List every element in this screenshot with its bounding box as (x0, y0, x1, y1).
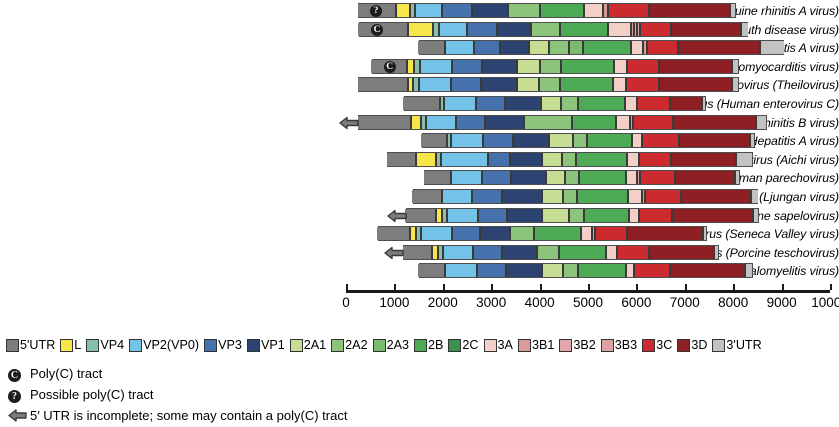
genome-segment[interactable] (419, 78, 451, 91)
genome-segment[interactable] (670, 97, 702, 110)
genome-segment[interactable] (456, 116, 485, 129)
genome-segment[interactable] (451, 171, 482, 184)
legend-swatch (484, 339, 497, 352)
genome-segment[interactable] (358, 78, 409, 91)
genome-row: Aphthovirus (Foot-and-mouth disease viru… (0, 21, 839, 39)
genome-segment[interactable] (675, 171, 736, 184)
genome-segment[interactable] (485, 116, 524, 129)
genome-row: Sapelovirus (Porcine sapelovirus) (0, 207, 839, 225)
axis-tick-label: 0 (342, 295, 350, 310)
genome-segment[interactable] (529, 41, 548, 54)
legend-note: 5′ UTR is incomplete; some may contain a… (8, 406, 347, 426)
legend-swatch (290, 339, 303, 352)
genome-segment[interactable] (447, 209, 478, 222)
genome-segment[interactable] (595, 227, 627, 240)
legend-swatch (677, 339, 690, 352)
genome-segment[interactable] (517, 78, 540, 91)
genome-segment[interactable] (639, 153, 671, 166)
axis-tick-label: 2000 (428, 295, 458, 310)
genome-segment[interactable] (451, 78, 481, 91)
genome-segment[interactable] (510, 153, 542, 166)
genome-segment[interactable] (642, 134, 679, 147)
bar-track (346, 262, 839, 280)
genome-bar[interactable] (403, 245, 719, 260)
legend-item[interactable]: 3A (484, 336, 513, 354)
bar-track (346, 244, 839, 262)
genome-bar[interactable] (422, 133, 755, 148)
legend-swatch (6, 339, 19, 352)
genome-segment[interactable] (679, 134, 750, 147)
genome-segment[interactable] (584, 209, 629, 222)
genome-bar[interactable] (358, 3, 736, 18)
genome-segment[interactable] (730, 4, 735, 17)
genome-segment[interactable] (506, 264, 542, 277)
genome-segment[interactable] (541, 97, 561, 110)
genome-segment[interactable] (411, 116, 422, 129)
genome-segment[interactable] (573, 134, 587, 147)
bar-track (346, 95, 839, 113)
genome-bar[interactable] (406, 208, 759, 223)
genome-row: Teschovirus (Porcine teschovirus) (0, 244, 839, 262)
genome-segment[interactable] (481, 78, 516, 91)
genome-segment[interactable] (673, 116, 756, 129)
genome-segment[interactable] (377, 227, 409, 240)
polyc-tract-icon: C (371, 24, 383, 36)
legend-label: 3A (498, 336, 513, 354)
genome-segment[interactable] (561, 97, 578, 110)
legend-swatch (204, 339, 217, 352)
genome-segment[interactable] (510, 227, 534, 240)
note-label: Possible poly(C) tract (30, 385, 154, 405)
genome-segment[interactable] (420, 60, 452, 73)
genome-row: Senecavirus (Seneca Valley virus) (0, 225, 839, 243)
genome-segment[interactable] (444, 97, 476, 110)
axis-tick-label: 9000 (767, 295, 797, 310)
legend-label: 3B2 (573, 336, 595, 354)
genome-segment[interactable] (703, 227, 707, 240)
genome-segment[interactable] (445, 41, 474, 54)
genome-segment[interactable] (396, 4, 410, 17)
genome-segment[interactable] (672, 209, 753, 222)
genome-segment[interactable] (482, 60, 516, 73)
genome-segment[interactable] (412, 190, 442, 203)
bar-track (346, 188, 839, 206)
genome-segment[interactable] (647, 41, 678, 54)
genome-segment[interactable] (671, 23, 742, 36)
incomplete-5utr-arrow-icon (8, 407, 28, 425)
genome-segment[interactable] (472, 190, 502, 203)
genome-segment[interactable] (421, 134, 447, 147)
genome-segment[interactable] (416, 153, 436, 166)
genome-segment[interactable] (408, 23, 432, 36)
genome-segment[interactable] (542, 209, 569, 222)
legend-item[interactable]: 3D (677, 336, 707, 354)
genome-segment[interactable] (549, 134, 573, 147)
legend-item[interactable]: VP2(VP0) (129, 336, 199, 354)
legend-swatch (414, 339, 427, 352)
genome-segment[interactable] (442, 4, 472, 17)
genome-bar[interactable] (378, 226, 707, 241)
genome-row: Aphthovirus (Equine rhinitis A virus)? (0, 2, 839, 20)
genome-segment[interactable] (572, 116, 616, 129)
genome-segment[interactable] (531, 23, 560, 36)
genome-segment[interactable] (500, 41, 529, 54)
legend-item[interactable]: 2C (448, 336, 478, 354)
legend-item[interactable]: 2B (414, 336, 443, 354)
bar-track (346, 169, 839, 187)
genome-segment[interactable] (472, 4, 507, 17)
genome-segment[interactable] (627, 227, 703, 240)
legend-label: VP3 (218, 336, 242, 354)
axis-tick-label: 4000 (525, 295, 555, 310)
genome-segment[interactable] (616, 116, 630, 129)
genome-segment[interactable] (587, 134, 632, 147)
genome-segment[interactable] (407, 60, 414, 73)
genome-segment[interactable] (452, 227, 481, 240)
legend-label: 2A1 (304, 336, 326, 354)
genome-segment[interactable] (626, 264, 634, 277)
genome-segment[interactable] (584, 4, 603, 17)
genome-segment[interactable] (542, 190, 563, 203)
legend-item[interactable]: L (60, 336, 81, 354)
bar-track (346, 151, 839, 169)
legend-label: VP2(VP0) (143, 336, 199, 354)
genome-segment[interactable] (645, 190, 680, 203)
axis-tick-label: 7000 (670, 295, 700, 310)
genome-segment[interactable] (563, 190, 577, 203)
genome-segment[interactable] (482, 171, 511, 184)
genome-segment[interactable] (750, 134, 754, 147)
genome-segment[interactable] (483, 134, 513, 147)
genome-segment[interactable] (583, 41, 631, 54)
genome-segment[interactable] (659, 78, 732, 91)
genome-segment[interactable] (488, 153, 510, 166)
legend-swatch (86, 339, 99, 352)
genome-segment[interactable] (629, 209, 639, 222)
genome-segment[interactable] (534, 227, 581, 240)
genome-segment[interactable] (633, 116, 672, 129)
axis-tick-label: 1000 (379, 295, 409, 310)
genome-segment[interactable] (614, 60, 627, 73)
incomplete-5utr-arrow-icon (387, 209, 407, 222)
genome-segment[interactable] (560, 78, 613, 91)
legend-item[interactable]: 3C (642, 336, 672, 354)
legend-item[interactable]: 3B1 (518, 336, 554, 354)
axis-tick (491, 284, 493, 290)
legend-item[interactable]: 2A1 (290, 336, 326, 354)
legend-item[interactable]: 3B2 (559, 336, 595, 354)
axis-tick (540, 284, 542, 290)
genome-segment[interactable] (681, 190, 751, 203)
genome-segment[interactable] (542, 264, 563, 277)
genome-segment[interactable] (577, 190, 628, 203)
legend-swatch (373, 339, 386, 352)
genome-segment[interactable] (451, 134, 483, 147)
genome-segment[interactable] (751, 190, 758, 203)
axis-tick (782, 284, 784, 290)
axis-line (346, 290, 830, 293)
genome-row: Parechovirus (Ljungan virus) (0, 188, 839, 206)
genome-segment[interactable] (467, 23, 497, 36)
genome-bar[interactable] (359, 22, 748, 37)
genome-segment[interactable] (546, 171, 565, 184)
legend-label: 3'UTR (726, 336, 761, 354)
axis-tick (588, 284, 590, 290)
genome-segment[interactable] (387, 153, 417, 166)
genome-segment[interactable] (639, 209, 672, 222)
genome-segment[interactable] (418, 41, 445, 54)
genome-segment[interactable] (627, 60, 659, 73)
genome-segment[interactable] (561, 60, 614, 73)
genome-segment[interactable] (579, 171, 626, 184)
possible-polyc-tract-icon: ? (8, 390, 21, 403)
legend-note: CPoly(C) tract (8, 364, 102, 384)
genome-segment[interactable] (613, 78, 626, 91)
note-icon-wrap: C (8, 365, 28, 383)
legend-swatch (448, 339, 461, 352)
genome-segment[interactable] (497, 23, 531, 36)
genome-segment[interactable] (559, 246, 606, 259)
genome-segment[interactable] (415, 4, 442, 17)
genome-segment[interactable] (578, 264, 626, 277)
genome-segment[interactable] (745, 264, 752, 277)
genome-bar[interactable] (419, 263, 753, 278)
legend: 5'UTRLVP4VP2(VP0)VP3VP12A12A22A32B2C3A3B… (6, 336, 839, 354)
bar-track (346, 207, 839, 225)
genome-segment[interactable] (565, 171, 579, 184)
genome-segment[interactable] (569, 209, 584, 222)
bar-track: ? (346, 2, 839, 20)
genome-segment[interactable] (513, 134, 549, 147)
legend-swatch (712, 339, 725, 352)
legend-item[interactable]: 2A2 (331, 336, 367, 354)
bar-track (346, 225, 839, 243)
legend-item[interactable]: VP3 (204, 336, 242, 354)
legend-label: 3B3 (615, 336, 637, 354)
bar-track (346, 132, 839, 150)
axis-tick-label: 6000 (621, 295, 651, 310)
genome-segment[interactable] (476, 97, 505, 110)
axis-tick-label: 10000 (811, 295, 839, 310)
legend-label: VP4 (100, 336, 124, 354)
genome-segment[interactable] (542, 153, 562, 166)
genome-segment[interactable] (502, 190, 543, 203)
legend-swatch (247, 339, 260, 352)
legend-swatch (129, 339, 142, 352)
genome-segment[interactable] (562, 153, 576, 166)
genome-segment[interactable] (659, 60, 732, 73)
legend-label: 3D (691, 336, 707, 354)
genome-segment[interactable] (403, 97, 439, 110)
genome-segment[interactable] (576, 153, 627, 166)
genome-segment[interactable] (581, 227, 592, 240)
genome-segment[interactable] (403, 246, 433, 259)
genome-row: Erbovirus (Equine rhinitis B virus) (0, 114, 839, 132)
bar-track: C (346, 21, 839, 39)
genome-segment[interactable] (735, 171, 739, 184)
genome-segment[interactable] (405, 209, 436, 222)
axis-tick (685, 284, 687, 290)
legend-swatch (60, 339, 73, 352)
genome-segment[interactable] (560, 23, 608, 36)
genome-segment[interactable] (702, 97, 706, 110)
genome-segment[interactable] (511, 171, 546, 184)
genome-segment[interactable] (760, 41, 784, 54)
genome-segment[interactable] (640, 23, 671, 36)
genome-segment[interactable] (626, 171, 637, 184)
genome-segment[interactable] (756, 116, 767, 129)
genome-segment[interactable] (634, 264, 670, 277)
axis-tick (443, 284, 445, 290)
genome-segment[interactable] (424, 171, 451, 184)
genome-bar[interactable] (358, 115, 767, 130)
legend-item[interactable]: VP1 (247, 336, 285, 354)
genome-row: Hepatovirus (Hepatitis A virus) (0, 132, 839, 150)
genome-segment[interactable] (508, 4, 541, 17)
genome-segment[interactable] (626, 78, 659, 91)
genome-bar[interactable] (404, 96, 706, 111)
genome-segment[interactable] (608, 23, 631, 36)
genome-segment[interactable] (732, 60, 739, 73)
genome-segment[interactable] (753, 209, 758, 222)
genome-segment[interactable] (628, 190, 642, 203)
genome-segment[interactable] (507, 209, 542, 222)
legend-item[interactable]: 3B3 (601, 336, 637, 354)
genome-row: Cardiovirus (Theilovirus) (0, 76, 839, 94)
genome-segment[interactable] (439, 23, 467, 36)
genome-segment[interactable] (627, 153, 639, 166)
genome-segment[interactable] (606, 246, 618, 259)
legend-swatch (331, 339, 344, 352)
axis-tick-label: 3000 (476, 295, 506, 310)
genome-segment[interactable] (418, 264, 445, 277)
genome-segment[interactable] (537, 246, 559, 259)
genome-segment[interactable] (732, 78, 739, 91)
genome-row: Avihepatovirus (Duck hepatitis A virus) (0, 39, 839, 57)
genome-segment[interactable] (426, 116, 456, 129)
genome-segment[interactable] (441, 153, 488, 166)
legend-item[interactable]: 2A3 (373, 336, 409, 354)
genome-segment[interactable] (741, 23, 747, 36)
legend-label: 2C (462, 336, 478, 354)
genome-bar[interactable] (387, 152, 752, 167)
genome-segment[interactable] (539, 78, 559, 91)
genome-segment[interactable] (714, 246, 718, 259)
genome-segment[interactable] (578, 97, 625, 110)
genome-segment[interactable] (632, 134, 642, 147)
genome-segment[interactable] (640, 171, 674, 184)
genome-segment[interactable] (452, 60, 482, 73)
picornavirus-genome-figure: Aphthovirus (Equine rhinitis A virus)?Ap… (0, 0, 839, 427)
genome-bar[interactable] (372, 59, 739, 74)
genome-segment[interactable] (445, 264, 477, 277)
genome-segment[interactable] (670, 264, 745, 277)
note-label: Poly(C) tract (30, 364, 102, 384)
genome-segment[interactable] (625, 97, 637, 110)
genome-segment[interactable] (505, 97, 541, 110)
incomplete-5utr-arrow-icon (339, 116, 359, 129)
genome-segment[interactable] (649, 246, 714, 259)
genome-bar[interactable] (424, 170, 740, 185)
genome-segment[interactable] (358, 116, 411, 129)
genome-segment[interactable] (736, 153, 751, 166)
genome-row: Enterovirus (Human enterovirus C) (0, 95, 839, 113)
legend-label: 2A2 (345, 336, 367, 354)
genome-segment[interactable] (631, 41, 643, 54)
genome-segment[interactable] (569, 41, 583, 54)
legend-label: 3B1 (532, 336, 554, 354)
genome-segment[interactable] (540, 4, 584, 17)
legend-item[interactable]: 5'UTR (6, 336, 55, 354)
genome-row: Kobuvirus (Aichi virus) (0, 151, 839, 169)
incomplete-5utr-arrow-icon (384, 246, 404, 259)
genome-segment[interactable] (442, 190, 472, 203)
genome-segment[interactable] (524, 116, 573, 129)
genome-segment[interactable] (480, 227, 510, 240)
possible-polyc-tract-icon: ? (370, 5, 382, 17)
genome-segment[interactable] (473, 246, 502, 259)
bar-track (346, 39, 839, 57)
polyc-tract-icon: C (384, 61, 396, 73)
genome-bar[interactable] (419, 40, 785, 55)
x-axis: 0100020003000400050006000700080009000100… (346, 290, 830, 320)
genome-segment[interactable] (443, 246, 473, 259)
polyc-tract-icon: C (8, 369, 21, 382)
axis-tick (733, 284, 735, 290)
genome-segment[interactable] (477, 264, 506, 277)
legend-label: 2A3 (387, 336, 409, 354)
genome-segment[interactable] (649, 4, 730, 17)
bar-track: C (346, 58, 839, 76)
genome-segment[interactable] (563, 264, 578, 277)
legend-label: 2B (428, 336, 443, 354)
genome-segment[interactable] (502, 246, 536, 259)
genome-segment[interactable] (517, 60, 541, 73)
legend-label: 3C (656, 336, 672, 354)
genome-segment[interactable] (608, 4, 649, 17)
axis-tick (346, 284, 348, 290)
bar-track (346, 114, 839, 132)
legend-swatch (559, 339, 572, 352)
axis-tick (636, 284, 638, 290)
legend-swatch (601, 339, 614, 352)
genome-row: Parechovirus (Human parechovirus) (0, 169, 839, 187)
genome-segment[interactable] (540, 60, 560, 73)
genome-segment[interactable] (474, 41, 500, 54)
legend-swatch (642, 339, 655, 352)
note-label: 5′ UTR is incomplete; some may contain a… (30, 406, 347, 426)
genome-segment[interactable] (421, 227, 452, 240)
axis-tick (394, 284, 396, 290)
genome-row: Cardiovirus (Encephalomyocarditis virus)… (0, 58, 839, 76)
genome-segment[interactable] (678, 41, 760, 54)
legend-item[interactable]: 3'UTR (712, 336, 761, 354)
genome-segment[interactable] (358, 23, 408, 36)
genome-segment[interactable] (478, 209, 508, 222)
genome-segment[interactable] (617, 246, 649, 259)
genome-segment[interactable] (637, 97, 669, 110)
genome-bar[interactable] (413, 189, 759, 204)
legend-swatch (518, 339, 531, 352)
genome-segment[interactable] (549, 41, 569, 54)
legend-note: ?Possible poly(C) tract (8, 385, 154, 405)
note-icon-wrap: ? (8, 386, 28, 404)
genome-bar[interactable] (358, 77, 739, 92)
legend-item[interactable]: VP4 (86, 336, 124, 354)
genome-segment[interactable] (671, 153, 736, 166)
legend-label: 5'UTR (20, 336, 55, 354)
legend-label: VP1 (261, 336, 285, 354)
